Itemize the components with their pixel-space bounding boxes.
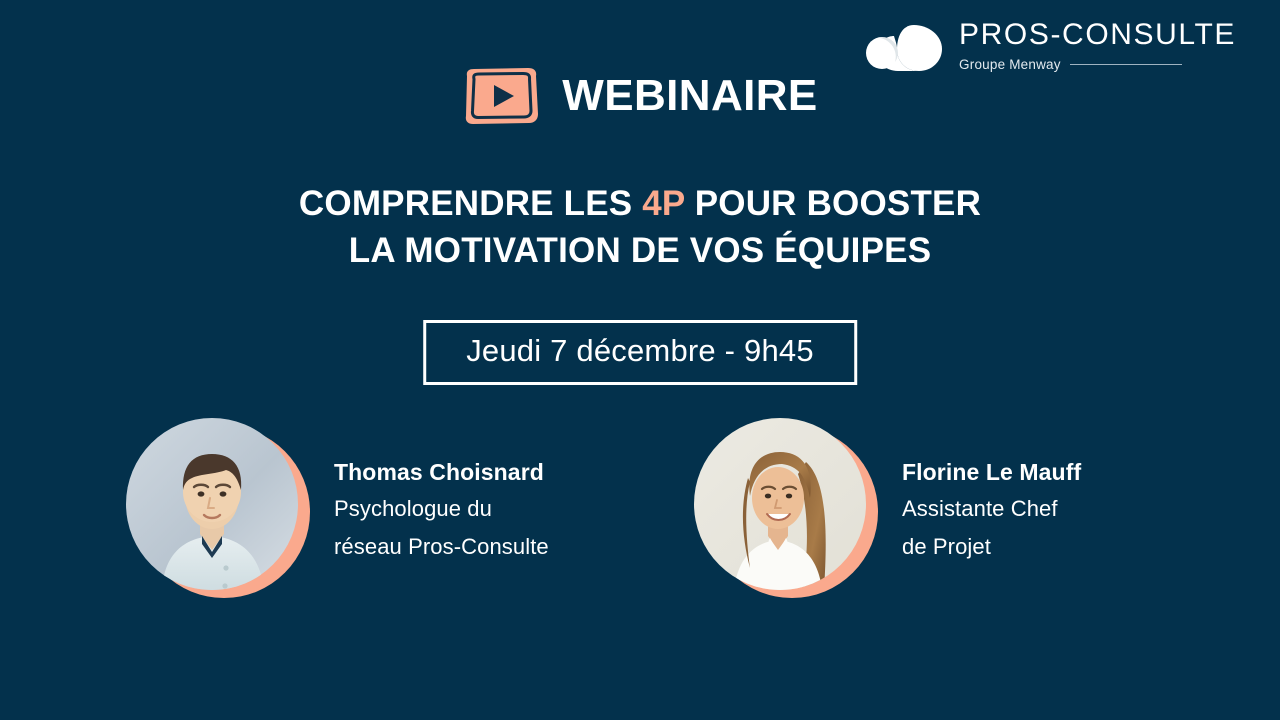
headline-line-2: LA MOTIVATION DE VOS ÉQUIPES <box>0 227 1280 274</box>
speakers-row: Thomas Choisnard Psychologue du réseau P… <box>0 418 1280 602</box>
play-video-icon <box>462 66 540 126</box>
headline-line-1-before: COMPRENDRE LES <box>299 184 642 223</box>
logo-wordmark: PROS-CONSULTE <box>959 20 1236 50</box>
speaker-role-line-1: Assistante Chef <box>902 490 1081 528</box>
avatar <box>694 418 878 602</box>
speaker-role-line-2: réseau Pros-Consulte <box>334 528 549 566</box>
speaker-info: Florine Le Mauff Assistante Chef de Proj… <box>902 454 1081 566</box>
speaker-name: Florine Le Mauff <box>902 454 1081 490</box>
headline-line-1-after: POUR BOOSTER <box>685 184 981 223</box>
webinar-label: WEBINAIRE <box>562 74 817 118</box>
logo-text-block: PROS-CONSULTE Groupe Menway <box>959 20 1236 72</box>
speaker-role-line-1: Psychologue du <box>334 490 549 528</box>
date-badge: Jeudi 7 décembre - 9h45 <box>423 320 857 385</box>
webinar-header: WEBINAIRE <box>0 66 1280 126</box>
logo-divider-rule <box>1070 64 1182 65</box>
speaker-info: Thomas Choisnard Psychologue du réseau P… <box>334 454 549 566</box>
speaker-role-line-2: de Projet <box>902 528 1081 566</box>
speaker-name: Thomas Choisnard <box>334 454 549 490</box>
portrait-florine-le-mauff <box>694 418 866 590</box>
portrait-thomas-choisnard <box>126 418 298 590</box>
speaker-card-thomas-choisnard: Thomas Choisnard Psychologue du réseau P… <box>126 418 586 602</box>
speaker-card-florine-le-mauff: Florine Le Mauff Assistante Chef de Proj… <box>694 418 1154 602</box>
avatar <box>126 418 310 602</box>
page-title: COMPRENDRE LES 4P POUR BOOSTER LA MOTIVA… <box>0 180 1280 275</box>
date-text: Jeudi 7 décembre - 9h45 <box>466 332 814 369</box>
headline-accent-4p: 4P <box>642 184 685 223</box>
headline-line-1: COMPRENDRE LES 4P POUR BOOSTER <box>0 180 1280 227</box>
